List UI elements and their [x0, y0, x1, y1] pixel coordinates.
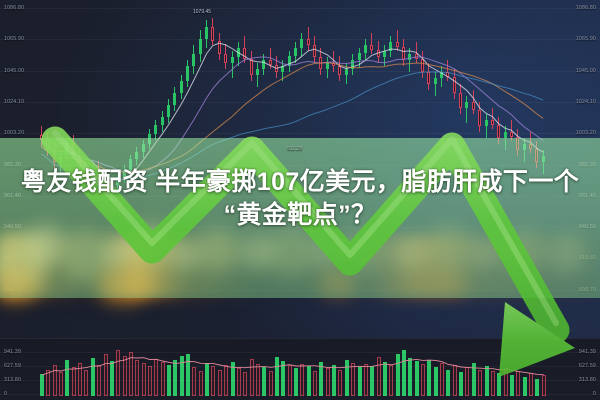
stock-chart-banner: 1086.801086.801065.901065.901045.001045.… [0, 0, 600, 400]
headline-line-2: “黄金靶点”？ [0, 199, 600, 232]
low-marker-label: 912.28 [287, 146, 302, 152]
page-title: 粤友钱配资 半年豪掷107亿美元，脂肪肝成下一个 “黄金靶点”？ [0, 166, 600, 232]
headline-line-1: 粤友钱配资 半年豪掷107亿美元，脂肪肝成下一个 [0, 166, 600, 199]
